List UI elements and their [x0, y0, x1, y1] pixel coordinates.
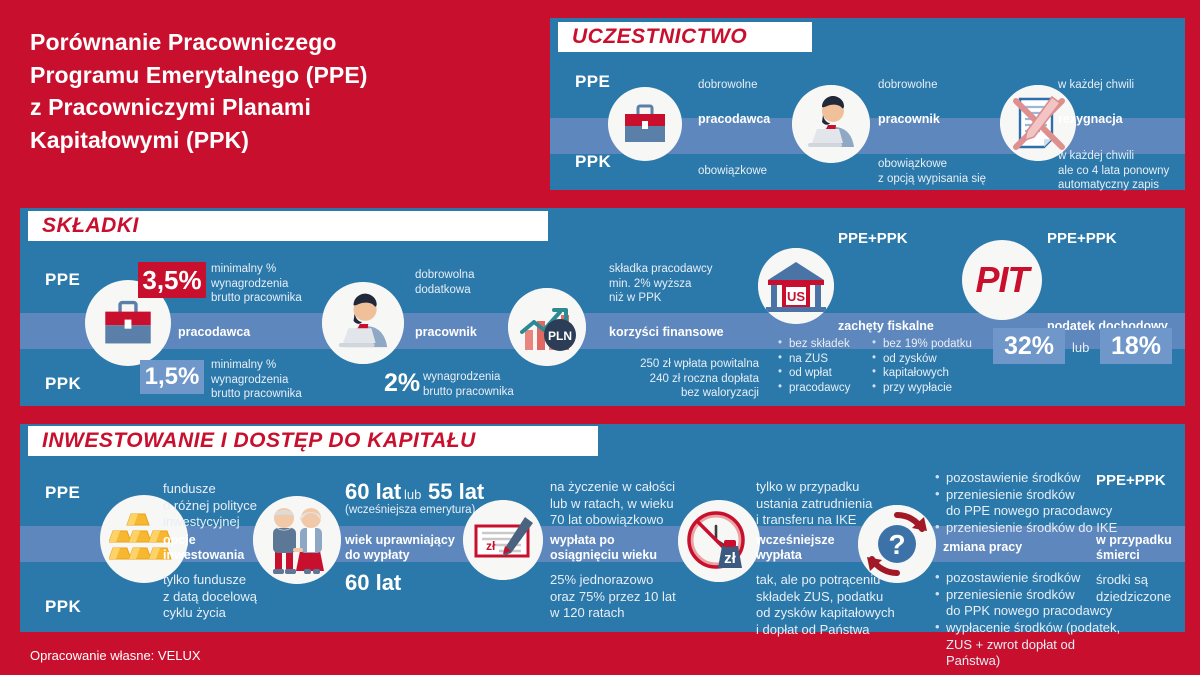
col1-ppk-text-2: minimalny % wynagrodzenia brutto pracown… [211, 358, 336, 402]
bullet-cont: od wpłat [778, 366, 868, 381]
col2-ppk-text-1: obowiązkowe z opcją wypisania się [878, 157, 1028, 186]
growth-chart-pln-icon: PLN [508, 288, 586, 366]
col1-ppe-text-1: dobrowolne [698, 78, 818, 93]
band-label-wczesniejsze-3: wcześniejsze wypłata [756, 533, 835, 563]
col3-ppk-text-1: w każdej chwili ale co 4 lata ponowny au… [1058, 149, 1198, 193]
elderly-couple-glyph [253, 496, 341, 584]
col2-ppe-sep-3: lub [404, 487, 421, 504]
tax-rate-high: 32% [993, 328, 1065, 364]
col2-ppe-text-2: dobrowolna dodatkowa [415, 268, 535, 297]
band-label-opcje-3: opcje inwestowania [163, 533, 244, 563]
band-label-zachety-2: zachęty fiskalne [838, 319, 934, 334]
col3-ppe-text-1: w każdej chwili [1058, 78, 1188, 93]
title-line-4: Kapitałowymi (PPK) [30, 124, 530, 157]
row-label-ppk-3: PPK [45, 597, 81, 617]
svg-text:PLN: PLN [548, 329, 572, 343]
svg-text:zł: zł [724, 550, 737, 567]
clock-prohibited-money-icon: zł [678, 500, 760, 582]
row-label-ppe-3: PPE [45, 483, 80, 503]
title-line-3: z Pracowniczymi Planami [30, 91, 530, 124]
band-label-zmiana-3: zmiana pracy [943, 540, 1022, 555]
bullet-item: bez 19% podatku [872, 337, 982, 352]
svg-text:zł: zł [486, 539, 496, 553]
band-label-pracownik-1: pracownik [878, 112, 940, 127]
bullet-item: wypłacenie środków (podatek, ZUS + zwrot… [935, 620, 1130, 670]
tax-office-building-glyph: US [758, 248, 834, 324]
bullet-cont: kapitałowych [872, 366, 982, 381]
tax-rate-separator: lub [1072, 340, 1089, 357]
band-label-wyplata-3: wypłata po osiągnięciu wieku [550, 533, 657, 563]
bullet-cont: przy wypłacie [872, 381, 982, 396]
col3-ppk-text-3: 25% jednorazowo oraz 75% przez 10 lat w … [550, 572, 715, 622]
col2-ppe-text-1: dobrowolne [878, 78, 1008, 93]
band-label-pracodawca-1: pracodawca [698, 112, 770, 127]
band-label-smierc-3: w przypadku śmierci [1096, 533, 1172, 563]
band-label-wiek-3: wiek uprawniający do wypłaty [345, 533, 455, 563]
col1-ppe-text-2: minimalny % wynagrodzenia brutto pracown… [211, 262, 336, 306]
elderly-couple-icon [253, 496, 341, 584]
briefcase-glyph [100, 298, 156, 348]
employee-laptop-icon [322, 282, 404, 364]
bullet-item: przeniesienie środków do IKE [935, 520, 1120, 537]
tag-ppe-ppk-podatek: PPE+PPK [1047, 230, 1117, 247]
title-line-1: Porównanie Pracowniczego [30, 26, 530, 59]
bullet-item: pozostawienie środków [935, 470, 1120, 487]
col4-bullets-right-2: bez 19% podatku od zysków kapitałowych p… [872, 337, 982, 396]
col1-ppk-text-1: obowiązkowe [698, 164, 838, 179]
bullet-cont: od zysków [872, 352, 982, 367]
band-label-rezygnacja-1: rezygnacja [1058, 112, 1123, 127]
employee-laptop-glyph [792, 85, 870, 163]
row-label-ppe-1: PPE [575, 72, 610, 92]
bullet-item: bez składek [778, 337, 868, 352]
col3-ppe-text-2: składka pracodawcy min. 2% wyższa niż w … [609, 262, 749, 306]
section-heading-inwestowanie: INWESTOWANIE I DOSTĘP DO KAPITAŁU [28, 426, 598, 456]
cheque-pen-icon: zł [463, 500, 543, 580]
col2-ppk-text-2: wynagrodzenia brutto pracownika [423, 370, 548, 399]
section-heading-skladki: SKŁADKI [28, 211, 548, 241]
tax-office-building-icon: US [758, 248, 834, 324]
employee-laptop-icon [792, 85, 870, 163]
briefcase-glyph [621, 102, 669, 146]
tag-ppe-ppk-smierc: PPE+PPK [1096, 472, 1166, 489]
col6-ppk-text-3: środki są dziedziczone [1096, 572, 1196, 605]
chip-ppk-rate-skladki: 1,5% [140, 360, 204, 394]
svg-text:US: US [787, 289, 805, 304]
page-title: Porównanie Pracowniczego Programu Emeryt… [30, 26, 530, 157]
growth-chart-pln-glyph: PLN [508, 288, 586, 366]
footer-credit: Opracowanie własne: VELUX [30, 648, 201, 663]
pit-icon: PIT [962, 240, 1042, 320]
col4-bullets-left-2: bez składek na ZUS od wpłat pracodawcy [778, 337, 868, 396]
band-label-pracodawca-2: pracodawca [178, 325, 250, 340]
row-label-ppk-1: PPK [575, 152, 611, 172]
tag-ppe-ppk-fiskalne: PPE+PPK [838, 230, 908, 247]
col2-ppk-rate-2: 2% [384, 369, 420, 398]
band-label-korzysci-2: korzyści finansowe [609, 325, 724, 340]
col2-ppk-age-3: 60 lat [345, 570, 401, 596]
bullet-cont: na ZUS [778, 352, 868, 367]
svg-text:?: ? [888, 529, 905, 560]
clock-prohibited-money-glyph: zł [678, 500, 760, 582]
pit-label: PIT [975, 259, 1028, 301]
bullet-item: przeniesienie środków do PPE nowego prac… [935, 487, 1120, 520]
title-line-2: Programu Emerytalnego (PPE) [30, 59, 530, 92]
infographic-root: Porównanie Pracowniczego Programu Emeryt… [0, 0, 1200, 675]
col2-ppe-age2-3: 55 lat [428, 479, 484, 505]
col5-ppe-bullets-3: pozostawienie środków przeniesienie środ… [935, 470, 1120, 537]
briefcase-icon [608, 87, 682, 161]
bullet-cont: pracodawcy [778, 381, 868, 396]
chip-ppe-rate-skladki: 3,5% [138, 262, 206, 298]
tax-rate-low: 18% [1100, 328, 1172, 364]
employee-laptop-glyph [322, 282, 404, 364]
question-arrows-glyph: ? [858, 505, 936, 583]
col3-ppk-text-2: 250 zł wpłata powitalna 240 zł roczna do… [609, 357, 759, 401]
row-label-ppk-2: PPK [45, 374, 81, 394]
row-label-ppe-2: PPE [45, 270, 80, 290]
section-heading-uczestnictwo: UCZESTNICTWO [558, 22, 812, 52]
question-arrows-icon: ? [858, 505, 936, 583]
band-label-pracownik-2: pracownik [415, 325, 477, 340]
cheque-pen-glyph: zł [463, 500, 543, 580]
col2-ppe-age-3: 60 lat [345, 479, 401, 505]
